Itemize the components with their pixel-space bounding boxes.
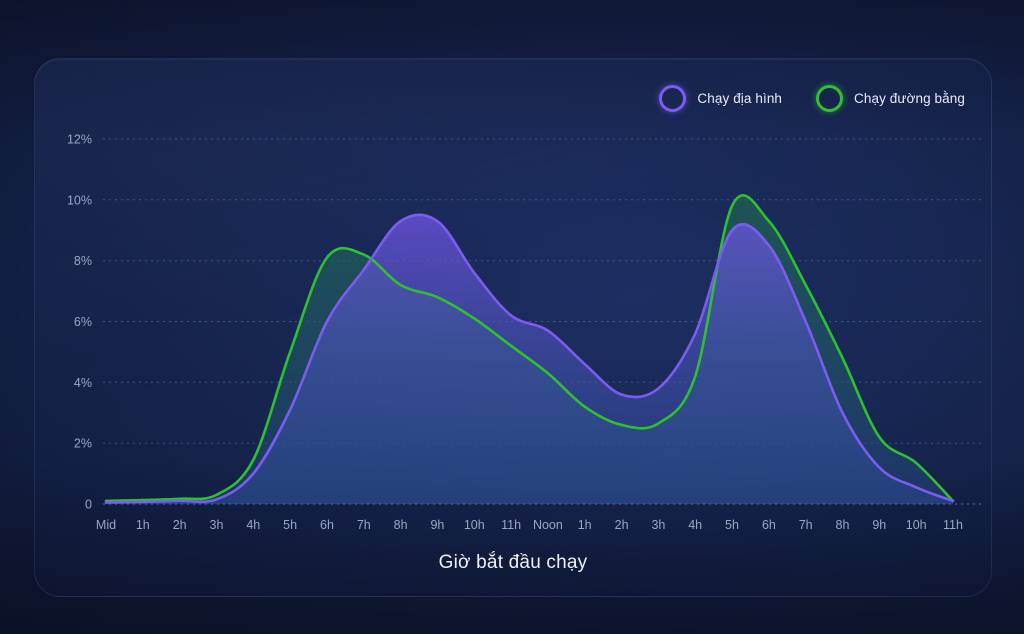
plot-area: 02%4%6%8%10%12%Mid1h2h3h4h5h6h7h8h9h10h1… xyxy=(35,59,991,596)
x-axis-tick-label: 10h xyxy=(906,518,927,532)
x-axis-tick-label: 7h xyxy=(357,518,371,532)
x-axis-tick-label: Mid xyxy=(96,518,116,532)
x-axis-title: Giờ bắt đầu chạy xyxy=(35,552,991,574)
y-axis-tick-label: 10% xyxy=(67,193,92,207)
y-axis-tick-label: 2% xyxy=(74,437,92,451)
y-axis-tick-label: 12% xyxy=(67,133,92,147)
x-axis-tick-label: 6h xyxy=(762,518,776,532)
x-axis-tick-label: 3h xyxy=(651,518,665,532)
x-axis-tick-label: 2h xyxy=(615,518,629,532)
x-axis-tick-label: 7h xyxy=(799,518,813,532)
x-axis-tick-label: 10h xyxy=(464,518,485,532)
y-axis-tick-label: 0 xyxy=(85,498,92,512)
x-axis-tick-label: 2h xyxy=(173,518,187,532)
x-axis-tick-label: 9h xyxy=(430,518,444,532)
x-axis-tick-label: 3h xyxy=(210,518,224,532)
x-axis-tick-label: 5h xyxy=(283,518,297,532)
x-axis-tick-label: 11h xyxy=(501,518,521,532)
y-axis-tick-label: 6% xyxy=(74,315,92,329)
x-axis-tick-label: 1h xyxy=(578,518,592,532)
x-axis-tick-label: 4h xyxy=(246,518,260,532)
x-axis-tick-label: 5h xyxy=(725,518,739,532)
x-axis-tick-label: 11h xyxy=(943,518,963,532)
x-axis-tick-label: 4h xyxy=(688,518,702,532)
x-axis-tick-label: 9h xyxy=(872,518,886,532)
area-chart: 02%4%6%8%10%12%Mid1h2h3h4h5h6h7h8h9h10h1… xyxy=(35,59,991,596)
y-axis-tick-label: 8% xyxy=(74,254,92,268)
chart-card: Chạy địa hình Chạy đường bằng 02%4%6%8%1… xyxy=(34,58,992,597)
x-axis-tick-label: 8h xyxy=(836,518,850,532)
x-axis-tick-label: 6h xyxy=(320,518,334,532)
y-axis-tick-label: 4% xyxy=(74,376,92,390)
x-axis-tick-label: 1h xyxy=(136,518,150,532)
x-axis-tick-label: Noon xyxy=(533,518,563,532)
x-axis-tick-label: 8h xyxy=(394,518,408,532)
